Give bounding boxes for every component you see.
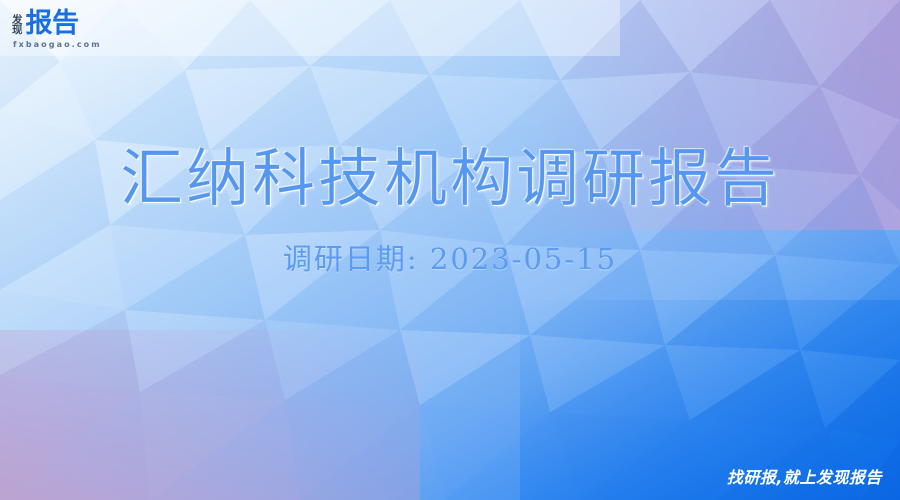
site-logo[interactable]: 发 现 报告 fxbaogao.com xyxy=(12,9,172,51)
footer-tagline: 找研报,就上发现报告 xyxy=(727,464,882,488)
report-cover-slide: 发 现 报告 fxbaogao.com 汇纳科技机构调研报告 调研日期: 202… xyxy=(0,0,900,500)
logo-wordmark: 报告 xyxy=(26,11,79,37)
logo-char-bottom: 现 xyxy=(12,25,23,36)
logo-wordmark-row: 发 现 报告 xyxy=(12,9,172,37)
page-title: 汇纳科技机构调研报告 xyxy=(120,128,780,219)
logo-domain-text: fxbaogao.com xyxy=(13,40,172,49)
survey-date-line: 调研日期: 2023-05-15 xyxy=(283,236,617,278)
subtitle-container: 调研日期: 2023-05-15 xyxy=(0,236,900,278)
logo-stacked-characters: 发 现 xyxy=(12,15,23,37)
